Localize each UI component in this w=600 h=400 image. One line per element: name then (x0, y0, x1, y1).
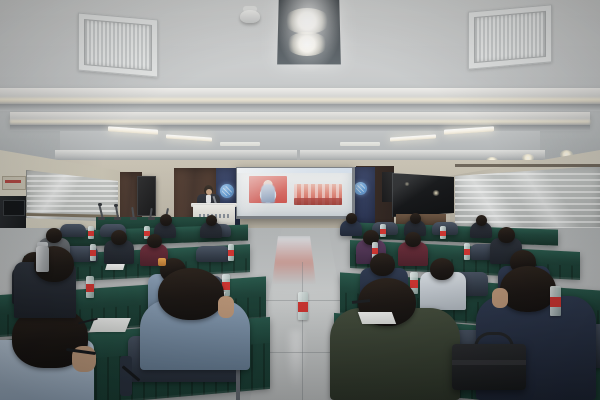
left-equipment-screen (3, 200, 25, 216)
attendee-head (206, 215, 217, 226)
presenter-face (206, 189, 212, 195)
attendee-head (147, 234, 162, 248)
tv-reflection-spot (432, 190, 440, 196)
beverage-cup (158, 258, 166, 266)
microphone-base (114, 217, 121, 220)
emblem-icon (354, 182, 367, 195)
attendee-head (46, 228, 62, 243)
tv-reflection-spot (404, 182, 410, 186)
projection-screen (237, 168, 352, 216)
microphone-head (114, 204, 118, 207)
linear-light-3 (220, 142, 260, 146)
bottle-label (86, 284, 94, 292)
wall-sign-left (2, 176, 26, 190)
bottle-label (90, 250, 96, 256)
attendee-head (430, 258, 454, 280)
ceiling-lamp-glow (276, 0, 342, 72)
microphone-base (130, 217, 137, 220)
air-vent-left (84, 19, 152, 71)
attendee-head (405, 232, 421, 247)
microphone-base (148, 217, 155, 220)
bottle-label (440, 231, 446, 236)
attendee-head (500, 266, 556, 312)
laptop-bag (452, 344, 526, 390)
attendee-hand (492, 288, 508, 308)
attendee-head (346, 213, 357, 224)
ceiling-soffit-outer-lip (0, 104, 600, 111)
microphone-head (98, 203, 102, 206)
wall-sign-stripe (5, 180, 21, 183)
aisle-screen-reflection (272, 236, 316, 284)
conference-hall-photo: Conference hall lecture session (0, 0, 600, 400)
attendee-head (160, 214, 172, 226)
emblem-icon (220, 184, 234, 198)
bag-flap (452, 360, 526, 365)
attendee-head (410, 213, 421, 224)
wall-tv-glare (392, 173, 454, 217)
bottle-label (410, 280, 418, 288)
attendee-head (158, 268, 224, 320)
attendee-head (111, 230, 127, 245)
bottle-label (380, 229, 386, 234)
cove-light-outer (0, 98, 600, 103)
microphone-base (98, 217, 105, 220)
notepad (358, 312, 396, 324)
chair (196, 246, 230, 262)
bottle-label (464, 249, 470, 255)
right-window-head-rail (455, 164, 600, 167)
bottle-label (550, 297, 561, 307)
bottle-label (228, 250, 234, 256)
aisle-floor-gloss (286, 330, 306, 390)
left-loudspeaker (137, 176, 156, 216)
floor-tile-line (302, 262, 303, 400)
screen-glare (237, 168, 352, 216)
presenter-shirt (206, 195, 211, 203)
bottle-label (298, 302, 308, 312)
attendee-head (476, 215, 487, 226)
notepad (105, 264, 125, 270)
smoke-detector (240, 10, 260, 23)
air-vent-right (474, 11, 546, 63)
attendee-head (498, 227, 515, 243)
linear-light-4 (340, 142, 380, 146)
bottle-label (88, 231, 94, 236)
thermos-flask (36, 246, 49, 272)
attendee-head (370, 253, 395, 276)
attendee-hand (218, 296, 234, 318)
chair (60, 224, 86, 237)
cove-light-mid (10, 120, 590, 124)
chair-arm (120, 356, 132, 396)
